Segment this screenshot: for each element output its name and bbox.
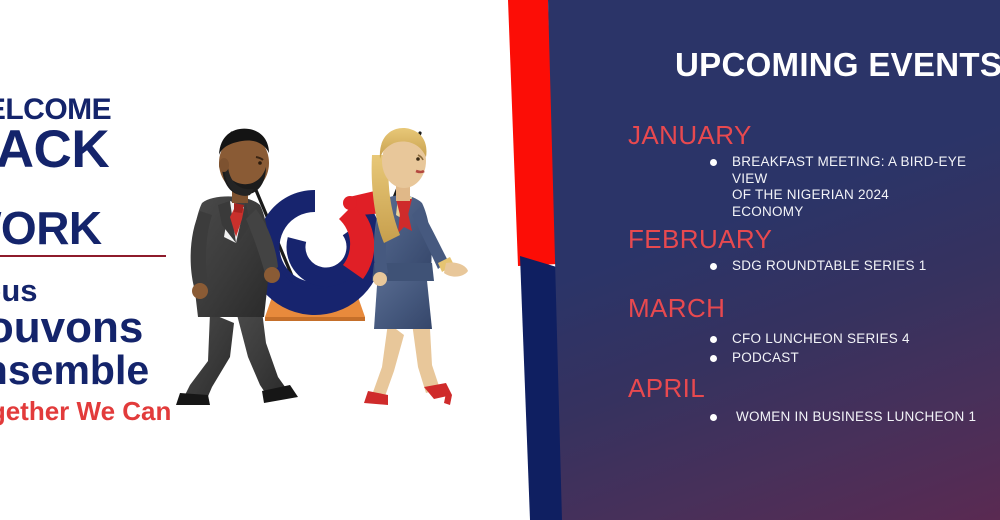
event-item: SDG ROUNDTABLE SERIES 1: [540, 258, 1000, 274]
event-item: PODCAST: [540, 350, 1000, 366]
bullet-icon: [710, 263, 717, 270]
left-panel: WELCOME BACK TO WORK Nous pouvons ensemb…: [0, 0, 560, 520]
bullet-icon: [710, 336, 717, 343]
event-list-april: WOMEN IN BUSINESS LUNCHEON 1: [540, 409, 1000, 425]
bullet-icon: [710, 355, 717, 362]
month-heading-february: FEBRUARY: [628, 226, 1000, 253]
event-label: PODCAST: [732, 350, 1000, 366]
month-group-april: APRIL WOMEN IN BUSINESS LUNCHEON 1: [540, 375, 1000, 426]
event-item: CFO LUNCHEON SERIES 4: [540, 331, 1000, 347]
events-title: UPCOMING EVENTS: [675, 46, 1000, 84]
event-item: BREAKFAST MEETING: A BIRD-EYE VIEW OF TH…: [540, 154, 1000, 220]
event-list-january: BREAKFAST MEETING: A BIRD-EYE VIEW OF TH…: [540, 154, 1000, 220]
event-label: WOMEN IN BUSINESS LUNCHEON 1: [736, 409, 1000, 425]
event-list-march: CFO LUNCHEON SERIES 4 PODCAST: [540, 331, 1000, 366]
event-label: BREAKFAST MEETING: A BIRD-EYE VIEW OF TH…: [732, 154, 1000, 220]
month-group-january: JANUARY BREAKFAST MEETING: A BIRD-EYE VI…: [540, 122, 1000, 220]
month-group-march: MARCH CFO LUNCHEON SERIES 4 PODCAST: [540, 295, 1000, 366]
events-panel: UPCOMING EVENTS JANUARY BREAKFAST MEETIN…: [540, 0, 1000, 520]
event-item: WOMEN IN BUSINESS LUNCHEON 1: [540, 409, 1000, 425]
divider-rule: [0, 255, 166, 257]
event-list-february: SDG ROUNDTABLE SERIES 1: [540, 258, 1000, 274]
slide-canvas: WELCOME BACK TO WORK Nous pouvons ensemb…: [0, 0, 1000, 520]
bullet-icon: [710, 159, 717, 166]
month-heading-march: MARCH: [628, 295, 1000, 322]
month-heading-january: JANUARY: [628, 122, 1000, 149]
month-group-february: FEBRUARY SDG ROUNDTABLE SERIES 1: [540, 226, 1000, 275]
illustration-group: [150, 85, 520, 425]
bullet-icon: [710, 414, 717, 421]
month-heading-april: APRIL: [628, 375, 1000, 402]
woman-figure: [364, 128, 468, 405]
event-label: CFO LUNCHEON SERIES 4: [732, 331, 1000, 347]
event-label: SDG ROUNDTABLE SERIES 1: [732, 258, 1000, 274]
events-content: UPCOMING EVENTS JANUARY BREAKFAST MEETIN…: [540, 0, 1000, 520]
